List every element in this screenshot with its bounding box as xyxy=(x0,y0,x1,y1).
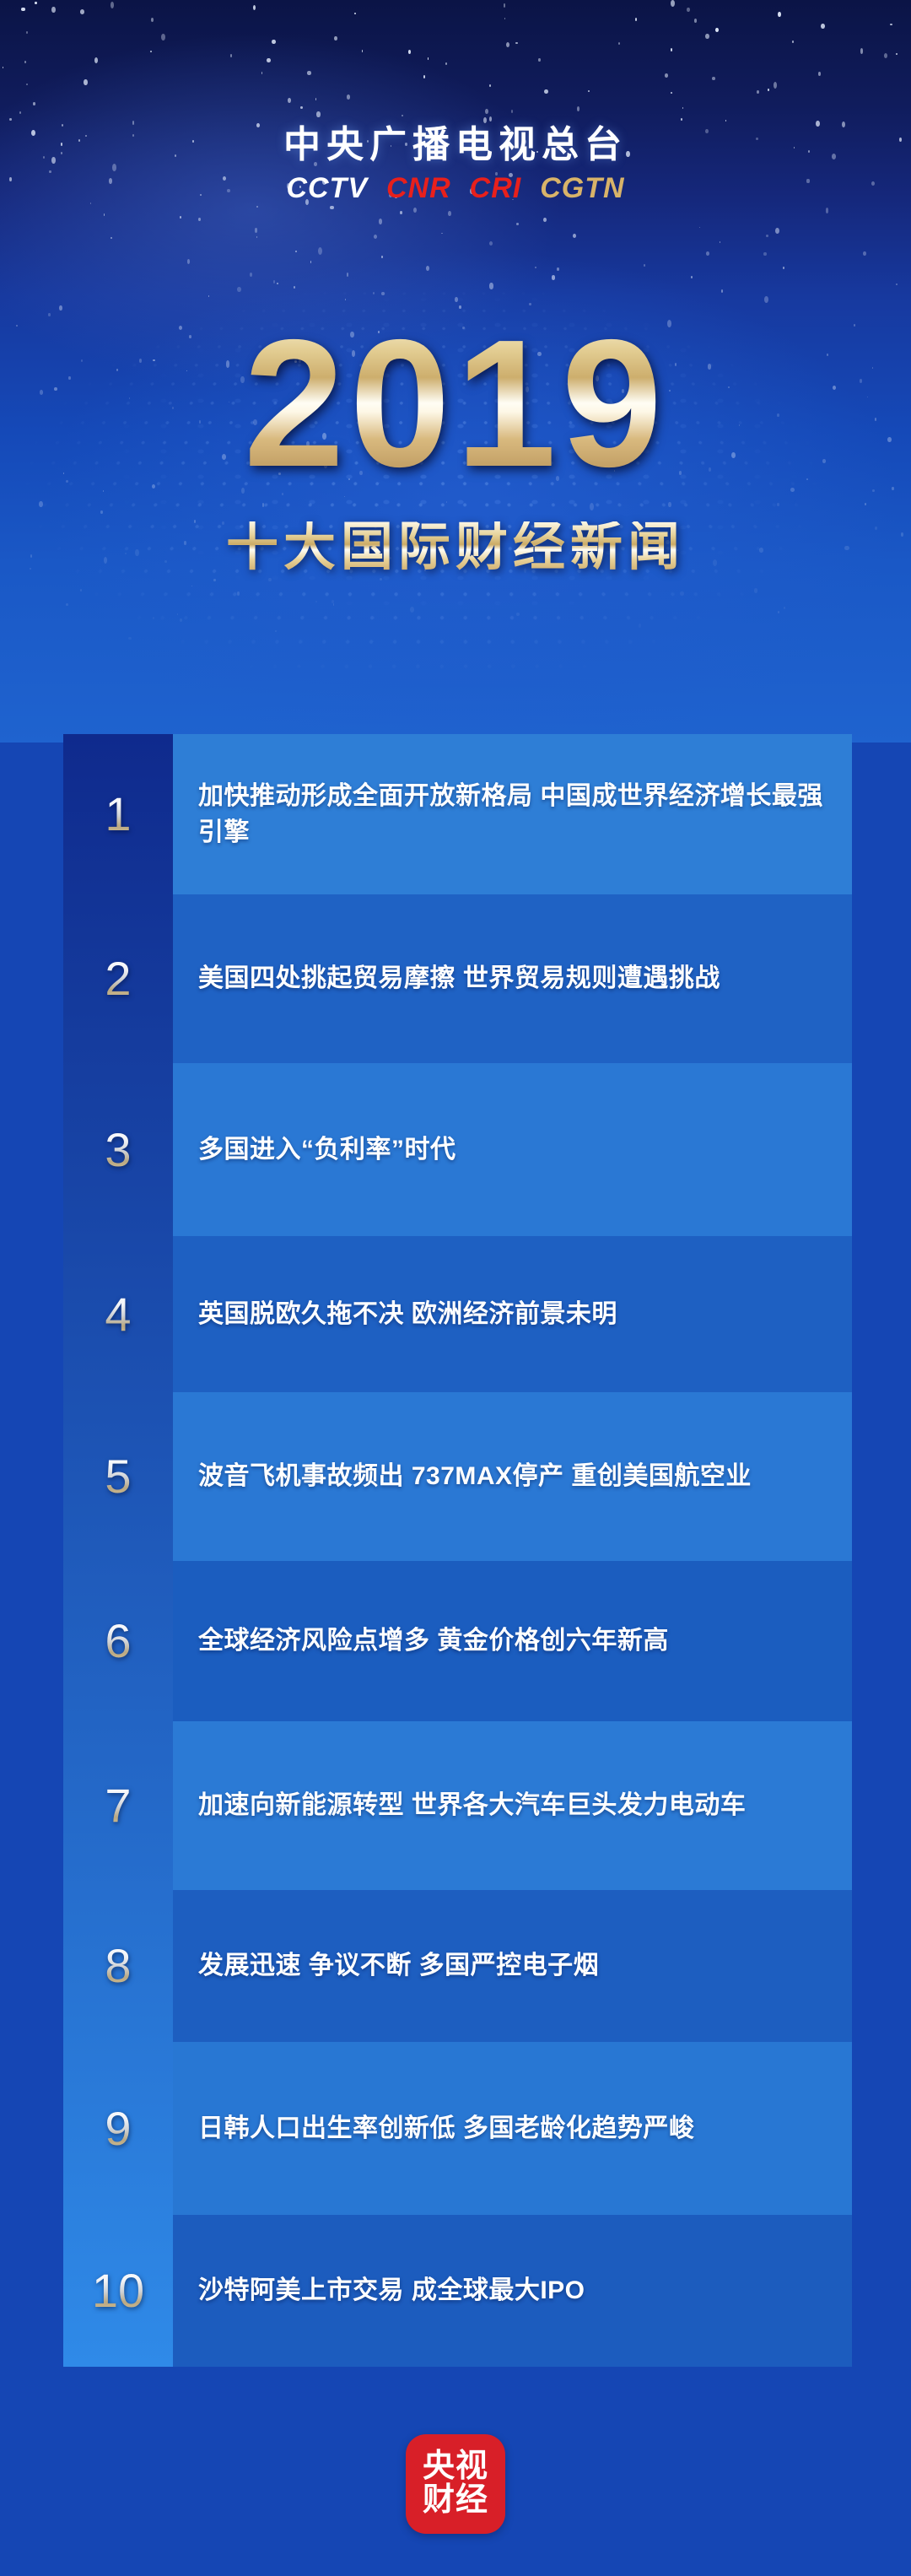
rank-cell: 9 xyxy=(63,2042,173,2215)
logo-line-2: 财经 xyxy=(423,2484,488,2518)
brand-cgtn: CGTN xyxy=(540,174,624,203)
news-title: 加速向新能源转型 世界各大汽车巨头发力电动车 xyxy=(198,1787,746,1824)
rank-cell: 5 xyxy=(63,1392,173,1561)
news-list: 1加快推动形成全面开放新格局 中国成世界经济增长最强引擎2美国四处挑起贸易摩擦 … xyxy=(63,734,852,2367)
news-item-8[interactable]: 8发展迅速 争议不断 多国严控电子烟 xyxy=(63,1890,852,2042)
rank-number: 9 xyxy=(105,2105,131,2152)
news-text-panel: 发展迅速 争议不断 多国严控电子烟 xyxy=(173,1890,852,2042)
news-text-panel: 全球经济风险点增多 黄金价格创六年新高 xyxy=(173,1561,852,1721)
footer: 央视 财经 xyxy=(0,2409,911,2576)
news-item-6[interactable]: 6全球经济风险点增多 黄金价格创六年新高 xyxy=(63,1561,852,1721)
news-item-9[interactable]: 9日韩人口出生率创新低 多国老龄化趋势严峻 xyxy=(63,2042,852,2215)
news-title: 加快推动形成全面开放新格局 中国成世界经济增长最强引擎 xyxy=(198,778,823,851)
news-item-4[interactable]: 4英国脱欧久拖不决 欧洲经济前景未明 xyxy=(63,1236,852,1392)
news-title: 波音飞机事故频出 737MAX停产 重创美国航空业 xyxy=(198,1458,752,1495)
hero-banner: 中央广播电视总台 CCTV CNR CRI CGTN 2019 十大国际财经新闻 xyxy=(0,0,911,743)
rank-cell: 1 xyxy=(63,734,173,894)
cmg-logo: 中央广播电视总台 CCTV CNR CRI CGTN xyxy=(0,127,911,203)
rank-number: 1 xyxy=(105,791,131,838)
news-item-1[interactable]: 1加快推动形成全面开放新格局 中国成世界经济增长最强引擎 xyxy=(63,734,852,894)
rank-number: 8 xyxy=(105,1942,131,1990)
news-title: 日韩人口出生率创新低 多国老龄化趋势严峻 xyxy=(198,2110,694,2147)
news-title: 发展迅速 争议不断 多国严控电子烟 xyxy=(198,1947,599,1985)
brand-cri: CRI xyxy=(470,174,522,203)
news-item-3[interactable]: 3多国进入“负利率”时代 xyxy=(63,1063,852,1236)
news-text-panel: 波音飞机事故频出 737MAX停产 重创美国航空业 xyxy=(173,1392,852,1561)
rank-cell: 10 xyxy=(63,2215,173,2367)
rank-number: 5 xyxy=(105,1453,131,1500)
news-text-panel: 加快推动形成全面开放新格局 中国成世界经济增长最强引擎 xyxy=(173,734,852,894)
rank-number: 3 xyxy=(105,1126,131,1174)
news-item-10[interactable]: 10沙特阿美上市交易 成全球最大IPO xyxy=(63,2215,852,2367)
news-item-7[interactable]: 7加速向新能源转型 世界各大汽车巨头发力电动车 xyxy=(63,1721,852,1890)
rank-cell: 7 xyxy=(63,1721,173,1890)
news-text-panel: 多国进入“负利率”时代 xyxy=(173,1063,852,1236)
rank-cell: 2 xyxy=(63,894,173,1063)
news-text-panel: 日韩人口出生率创新低 多国老龄化趋势严峻 xyxy=(173,2042,852,2215)
rank-cell: 8 xyxy=(63,1890,173,2042)
news-title: 多国进入“负利率”时代 xyxy=(198,1131,456,1169)
rank-number: 6 xyxy=(105,1617,131,1665)
brand-cctv: CCTV xyxy=(286,174,368,203)
rank-number: 2 xyxy=(105,955,131,1002)
rank-number: 10 xyxy=(92,2267,144,2314)
news-text-panel: 沙特阿美上市交易 成全球最大IPO xyxy=(173,2215,852,2367)
year-title: 2019 xyxy=(0,312,911,494)
news-text-panel: 加速向新能源转型 世界各大汽车巨头发力电动车 xyxy=(173,1721,852,1890)
news-item-5[interactable]: 5波音飞机事故频出 737MAX停产 重创美国航空业 xyxy=(63,1392,852,1561)
logo-line-1: 央视 xyxy=(423,2450,488,2484)
brand-cnr: CNR xyxy=(386,174,451,203)
infographic-page: 中央广播电视总台 CCTV CNR CRI CGTN 2019 十大国际财经新闻… xyxy=(0,0,911,2576)
news-text-panel: 英国脱欧久拖不决 欧洲经济前景未明 xyxy=(173,1236,852,1392)
brand-row: CCTV CNR CRI CGTN xyxy=(0,174,911,203)
news-title: 美国四处挑起贸易摩擦 世界贸易规则遭遇挑战 xyxy=(198,960,720,997)
news-title: 英国脱欧久拖不决 欧洲经济前景未明 xyxy=(198,1296,617,1333)
broadcaster-name: 中央广播电视总台 xyxy=(0,127,911,164)
news-title: 沙特阿美上市交易 成全球最大IPO xyxy=(198,2272,585,2309)
rank-cell: 4 xyxy=(63,1236,173,1392)
cctv-finance-logo: 央视 财经 xyxy=(406,2434,505,2534)
rank-number: 4 xyxy=(105,1291,131,1338)
rank-number: 7 xyxy=(105,1782,131,1829)
news-text-panel: 美国四处挑起贸易摩擦 世界贸易规则遭遇挑战 xyxy=(173,894,852,1063)
rank-cell: 3 xyxy=(63,1063,173,1236)
page-subtitle: 十大国际财经新闻 xyxy=(0,521,911,574)
news-item-2[interactable]: 2美国四处挑起贸易摩擦 世界贸易规则遭遇挑战 xyxy=(63,894,852,1063)
rank-cell: 6 xyxy=(63,1561,173,1721)
news-title: 全球经济风险点增多 黄金价格创六年新高 xyxy=(198,1623,669,1660)
